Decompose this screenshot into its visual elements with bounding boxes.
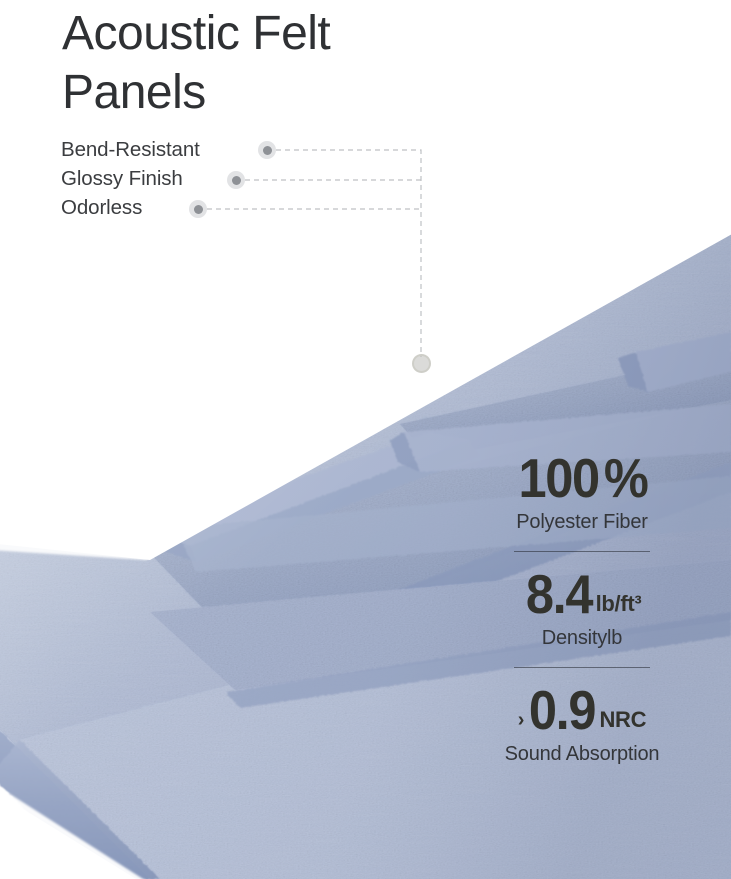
page-title: Acoustic Felt Panels — [62, 4, 492, 122]
stat-divider-1 — [514, 551, 650, 552]
stat-block-polyester: 100% Polyester Fiber — [437, 452, 727, 534]
stat-unit-density: lb/ft³ — [596, 591, 642, 617]
greater-than-icon: › — [518, 710, 525, 730]
stat-unit-nrc: NRC — [599, 707, 646, 733]
stat-value-polyester: 100% — [515, 452, 650, 504]
infographic-canvas: Acoustic Felt Panels Bend-Resistant Glos… — [0, 0, 731, 879]
stat-unit-polyester: % — [604, 452, 648, 504]
stat-number-nrc: 0.9 — [529, 684, 595, 736]
stat-value-nrc: ›0.9NRC — [518, 684, 646, 736]
stat-block-density: 8.4lb/ft³ Densitylb — [437, 568, 727, 650]
stat-value-density: 8.4lb/ft³ — [523, 568, 642, 620]
stat-label-polyester: Polyester Fiber — [516, 510, 648, 534]
page-title-line-1: Acoustic Felt — [62, 4, 492, 63]
stat-label-density: Densitylb — [542, 626, 622, 650]
stat-block-nrc: ›0.9NRC Sound Absorption — [437, 684, 727, 766]
page-title-line-2: Panels — [62, 63, 492, 122]
stat-number-polyester: 100 — [518, 452, 598, 504]
stat-divider-2 — [514, 667, 650, 668]
spec-stats-group: 100% Polyester Fiber 8.4lb/ft³ Densitylb… — [437, 452, 727, 766]
stat-label-nrc: Sound Absorption — [505, 742, 660, 766]
stat-number-density: 8.4 — [525, 568, 591, 620]
